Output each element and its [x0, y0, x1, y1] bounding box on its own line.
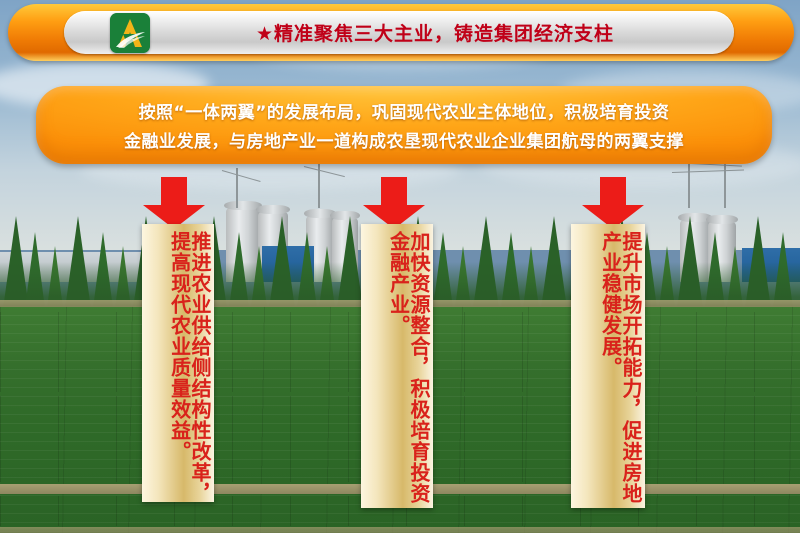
page-title: ★精准聚焦三大主业，铸造集团经济支柱	[155, 11, 715, 54]
pillar-1-line-2: 提高现代农业质量效益。	[169, 231, 189, 462]
down-arrow-icon	[582, 177, 644, 229]
pillar-panel-3: 提升市场开拓能力，促进房地 产业稳健发展。	[571, 224, 645, 508]
slide-canvas: ★精准聚焦三大主业，铸造集团经济支柱 按照“一体两翼”的发展布局，巩固现代农业主…	[0, 0, 800, 533]
pillar-2-line-1: 加快资源整合，积极培育投资	[409, 231, 429, 504]
field-path	[0, 527, 800, 533]
pillar-3-line-1: 提升市场开拓能力，促进房地	[621, 231, 641, 504]
down-arrow-icon	[143, 177, 205, 229]
pillar-1-line-1: 推进农业供给侧结构性改革，	[190, 231, 210, 502]
subtitle-banner: 按照“一体两翼”的发展布局，巩固现代农业主体地位，积极培育投资 金融业发展，与房…	[36, 86, 772, 164]
pillar-panel-1: 推进农业供给侧结构性改革， 提高现代农业质量效益。	[142, 224, 214, 502]
down-arrow-icon	[363, 177, 425, 229]
agriculture-group-logo-icon	[110, 13, 150, 53]
subtitle-line-2: 金融业发展，与房地产业一道构成农垦现代农业企业集团航母的两翼支撑	[124, 127, 684, 152]
pillar-3-line-2: 产业稳健发展。	[600, 231, 620, 378]
pillar-2-line-2: 金融产业。	[388, 231, 408, 336]
subtitle-line-1: 按照“一体两翼”的发展布局，巩固现代农业主体地位，积极培育投资	[139, 98, 670, 123]
pillar-panel-2: 加快资源整合，积极培育投资 金融产业。	[361, 224, 433, 508]
